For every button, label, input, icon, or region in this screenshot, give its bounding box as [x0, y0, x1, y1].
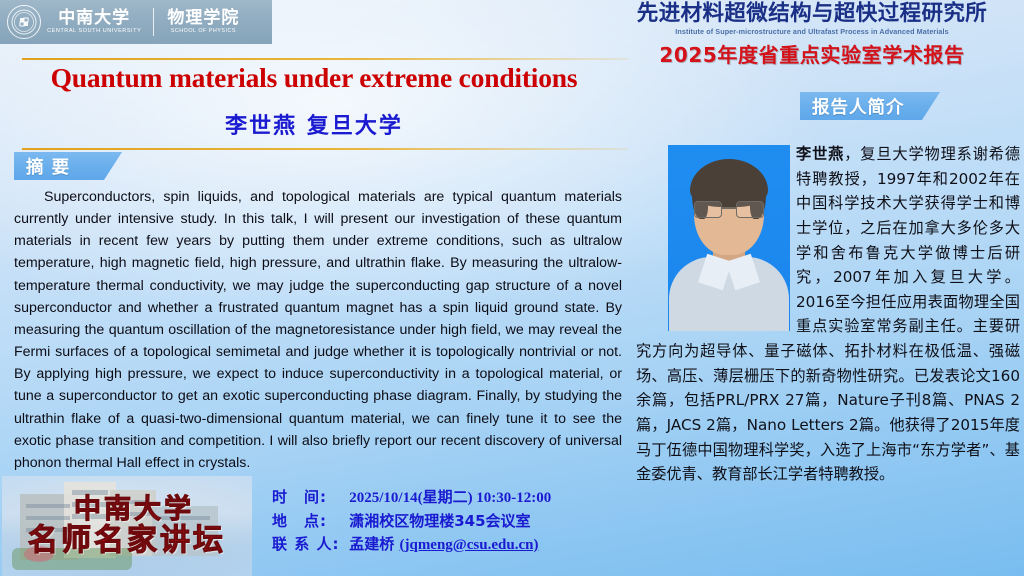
tab-abstract-label: 摘 要: [14, 154, 70, 179]
school-name-en: SCHOOL OF PHYSICS: [171, 29, 236, 34]
lecture-logo-line2: 名师名家讲坛: [28, 525, 226, 557]
institute-header: 先进材料超微结构与超快过程研究所 Institute of Super-micr…: [602, 2, 1022, 68]
event-contact-row: 联 系 人: 孟建桥 (jqmeng@csu.edu.cn): [272, 533, 551, 557]
speaker-bio-name: 李世燕: [796, 145, 844, 163]
portrait-text-wrap-spacer: [636, 142, 796, 334]
talk-title: Quantum materials under extreme conditio…: [0, 62, 628, 94]
logo-divider: [153, 8, 154, 36]
event-contact-email[interactable]: (jqmeng@csu.edu.cn): [399, 537, 538, 553]
institute-name-cn: 先进材料超微结构与超快过程研究所: [602, 2, 1022, 27]
seminar-poster: 中南大学 CENTRAL SOUTH UNIVERSITY 物理学院 SCHOO…: [0, 0, 1024, 576]
event-contact-label: 联 系 人:: [272, 533, 344, 556]
event-place-label: 地 点:: [272, 510, 344, 533]
tab-abstract: 摘 要: [14, 152, 122, 180]
event-time-label: 时 间:: [272, 486, 344, 509]
university-logo-bar: 中南大学 CENTRAL SOUTH UNIVERSITY 物理学院 SCHOO…: [0, 0, 272, 44]
event-time-row: 时 间: 2025/10/14(星期二) 10:30-12:00: [272, 486, 551, 510]
speaker-name-affiliation: 李世燕 复旦大学: [0, 108, 628, 140]
event-details: 时 间: 2025/10/14(星期二) 10:30-12:00 地 点: 潇湘…: [272, 486, 551, 556]
event-place-row: 地 点: 潇湘校区物理楼345会议室: [272, 510, 551, 533]
campus-building-photo: 中南大学 名师名家讲坛: [2, 476, 252, 576]
event-time-value: 2025/10/14(星期二) 10:30-12:00: [349, 490, 551, 506]
university-name-cn: 中南大学: [58, 10, 130, 27]
divider-mid: [22, 148, 628, 150]
lecture-logo-line1: 中南大学: [74, 496, 194, 524]
report-series-title: 2025年度省重点实验室学术报告: [602, 39, 1022, 68]
speaker-bio-text: 李世燕，复旦大学物理系谢希德特聘教授，1997年和2002年在中国科学技术大学获…: [636, 142, 1020, 487]
tab-speaker-bio: 报告人简介: [800, 92, 940, 120]
institute-name-en: Institute of Super-microstructure and Ul…: [602, 28, 1022, 37]
school-name-block: 物理学院 SCHOOL OF PHYSICS: [167, 10, 239, 35]
abstract-text: Superconductors, spin liquids, and topol…: [14, 186, 622, 474]
university-name-block: 中南大学 CENTRAL SOUTH UNIVERSITY: [48, 10, 140, 35]
csu-emblem-icon: [7, 5, 41, 39]
school-name-cn: 物理学院: [167, 10, 239, 27]
tab-speaker-bio-label: 报告人简介: [800, 94, 905, 119]
divider-top: [22, 58, 628, 60]
event-contact-name: 孟建桥: [349, 535, 394, 553]
university-name-en: CENTRAL SOUTH UNIVERSITY: [47, 29, 141, 34]
event-place-value: 潇湘校区物理楼345会议室: [349, 512, 530, 530]
lecture-series-logo: 中南大学 名师名家讲坛: [2, 476, 252, 576]
